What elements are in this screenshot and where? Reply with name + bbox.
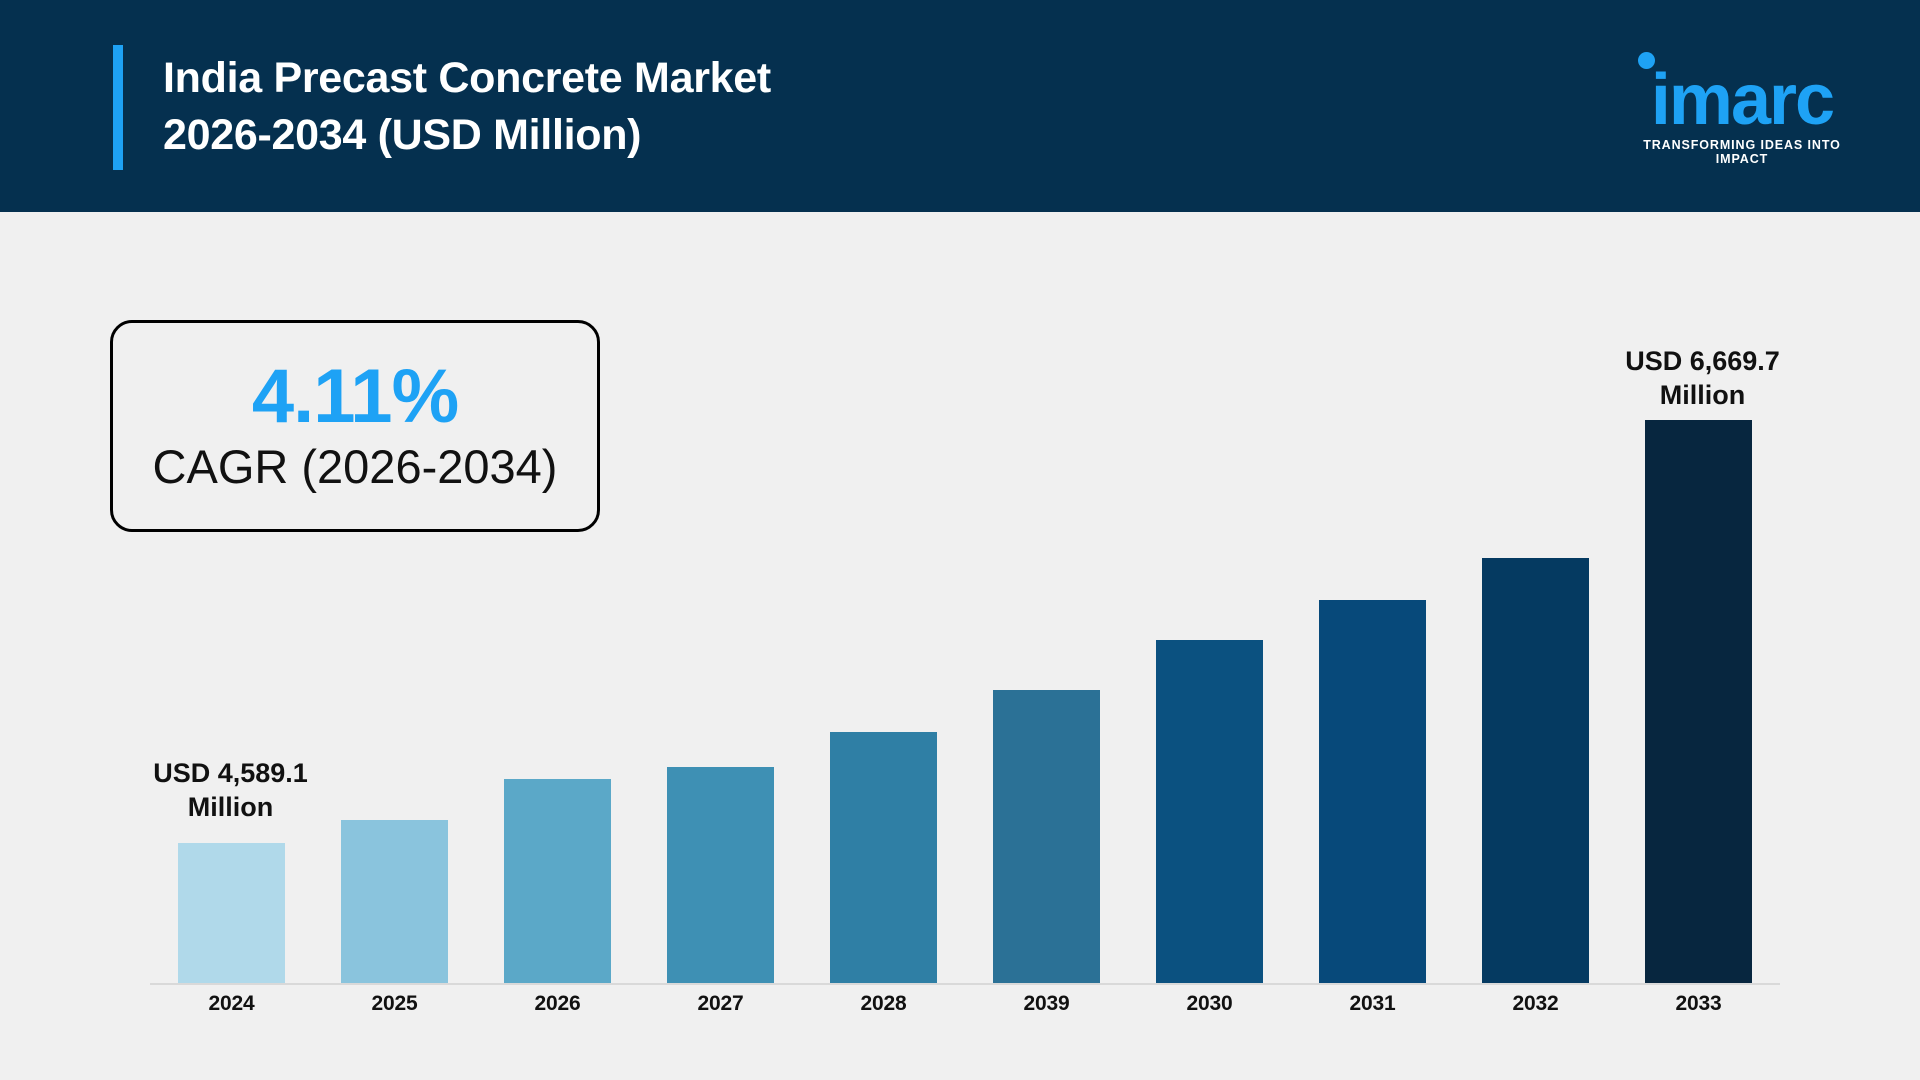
x-axis-label-2039: 2039 <box>993 992 1100 1016</box>
value-callout-first-line-2: Million <box>98 791 363 825</box>
x-axis-label-2024: 2024 <box>178 992 285 1016</box>
logo-tagline: TRANSFORMING IDEAS INTO IMPACT <box>1616 138 1868 166</box>
x-axis-label-2032: 2032 <box>1482 992 1589 1016</box>
bar-2032 <box>1482 558 1589 983</box>
bar-2033 <box>1645 420 1752 983</box>
bar-2030 <box>1156 640 1263 983</box>
x-axis-label-2031: 2031 <box>1319 992 1426 1016</box>
bar-2025 <box>341 820 448 983</box>
cagr-value: 4.11% <box>252 357 458 437</box>
bar-2024 <box>178 843 285 983</box>
cagr-label: CAGR (2026-2034) <box>153 439 558 495</box>
x-axis-label-2030: 2030 <box>1156 992 1263 1016</box>
value-callout-last: USD 6,669.7 Million <box>1570 345 1835 413</box>
cagr-box: 4.11% CAGR (2026-2034) <box>110 320 600 532</box>
page-title-line-1: India Precast Concrete Market <box>163 50 1263 107</box>
value-callout-last-line-1: USD 6,669.7 <box>1570 345 1835 379</box>
x-axis-label-2025: 2025 <box>341 992 448 1016</box>
logo-wordmark: imarc <box>1616 64 1868 136</box>
bar-2026 <box>504 779 611 983</box>
bar-2039 <box>993 690 1100 983</box>
bar-2031 <box>1319 600 1426 983</box>
page-title-line-2: 2026-2034 (USD Million) <box>163 107 1263 164</box>
value-callout-last-line-2: Million <box>1570 379 1835 413</box>
x-axis-label-2028: 2028 <box>830 992 937 1016</box>
title-accent-bar <box>113 45 123 170</box>
x-axis-label-2026: 2026 <box>504 992 611 1016</box>
chart-baseline <box>150 983 1780 985</box>
value-callout-first: USD 4,589.1 Million <box>98 757 363 825</box>
bar-2028 <box>830 732 937 983</box>
imarc-logo: imarc TRANSFORMING IDEAS INTO IMPACT <box>1616 48 1868 156</box>
bar-2027 <box>667 767 774 983</box>
page-header: India Precast Concrete Market 2026-2034 … <box>0 0 1920 212</box>
page-title: India Precast Concrete Market 2026-2034 … <box>163 50 1263 164</box>
x-axis-label-2033: 2033 <box>1645 992 1752 1016</box>
value-callout-first-line-1: USD 4,589.1 <box>98 757 363 791</box>
x-axis-label-2027: 2027 <box>667 992 774 1016</box>
